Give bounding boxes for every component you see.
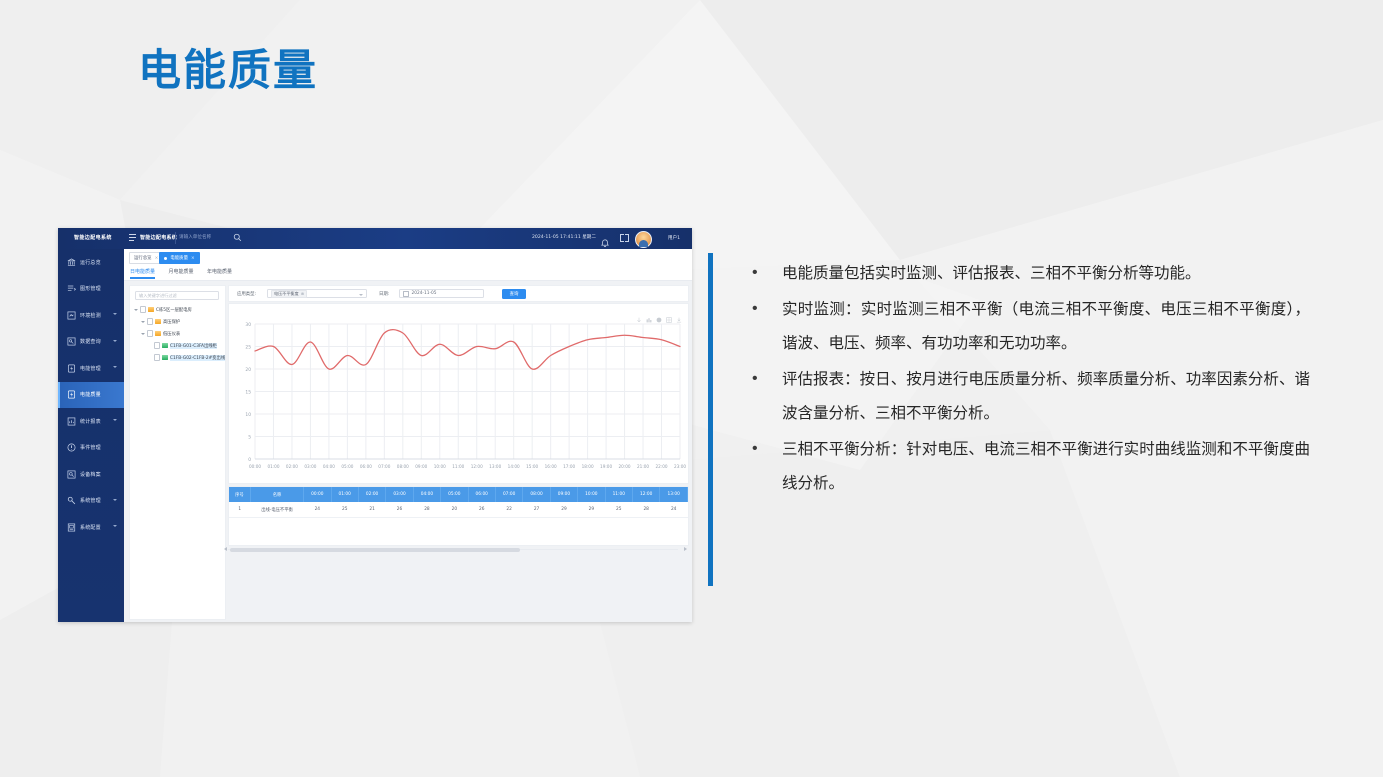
archive-icon	[67, 470, 76, 479]
type-tag: 电压不平衡度 ⊗	[271, 290, 307, 298]
svg-text:09:00: 09:00	[415, 464, 427, 469]
close-icon[interactable]: ×	[191, 256, 195, 261]
table-cell: 25	[331, 502, 358, 518]
monitor-icon	[67, 311, 76, 320]
calendar-icon	[403, 291, 409, 297]
query-button[interactable]: 查询	[502, 289, 526, 299]
report-icon	[67, 417, 76, 426]
device-icon	[162, 343, 168, 348]
chevron-icon[interactable]	[134, 308, 138, 312]
tree-node-1[interactable]: 高压保护	[141, 317, 180, 326]
sidebar-item-label: 运行总览	[80, 259, 101, 266]
chart-card: 05101520253000:0001:0002:0003:0004:0005:…	[228, 303, 689, 484]
svg-text:05:00: 05:00	[341, 464, 353, 469]
line-chart-plot: 05101520253000:0001:0002:0003:0004:0005:…	[229, 318, 688, 483]
tree-checkbox[interactable]	[154, 342, 161, 349]
svg-text:23:00: 23:00	[674, 464, 686, 469]
page-title: 电能质量	[138, 36, 318, 98]
type-tag-label: 电压不平衡度	[274, 291, 299, 297]
table-header-cell: 13:00	[660, 487, 688, 502]
chevron-down-icon	[113, 313, 117, 315]
restore-icon[interactable]	[666, 308, 672, 314]
tree-node-label: C1FB-G02-C1FB-2#变出线	[170, 355, 225, 361]
table-cell: 29	[578, 502, 605, 518]
date-value: 2024-11-05	[412, 291, 437, 296]
app-screenshot: 智能边配电系统 智能边配电系统 请输入单位名称 2024-11-05 17:41…	[58, 228, 692, 622]
table-cell: 20	[441, 502, 468, 518]
svg-text:0: 0	[248, 457, 251, 463]
energy-icon	[67, 364, 76, 373]
sidebar: 运行总览图形管理环境检测数据查询电能管理电能质量统计报表事件管理设备档案系统管理…	[58, 249, 124, 622]
chevron-down-icon	[113, 340, 117, 342]
sidebar-item-6[interactable]: 统计报表	[58, 408, 124, 435]
svg-text:11:00: 11:00	[452, 464, 464, 469]
table-cell: 26	[386, 502, 413, 518]
svg-text:08:00: 08:00	[397, 464, 409, 469]
sidebar-item-label: 事件管理	[80, 444, 101, 451]
svg-text:15: 15	[245, 390, 251, 396]
table-horizontal-scrollbar[interactable]	[228, 546, 687, 553]
table-header-cell: 08:00	[523, 487, 550, 502]
svg-text:25: 25	[245, 345, 251, 351]
table-cell: 26	[468, 502, 495, 518]
bullet-list: • 电能质量包括实时监测、评估报表、三相不平衡分析等功能。 • 实时监测：实时监…	[752, 256, 1310, 502]
svg-text:03:00: 03:00	[304, 464, 316, 469]
list-item: • 电能质量包括实时监测、评估报表、三相不平衡分析等功能。	[752, 256, 1310, 290]
close-icon[interactable]: ×	[155, 256, 159, 261]
svg-text:14:00: 14:00	[508, 464, 520, 469]
sidebar-item-8[interactable]: 设备档案	[58, 461, 124, 488]
svg-text:21:00: 21:00	[637, 464, 649, 469]
svg-text:06:00: 06:00	[360, 464, 372, 469]
layers-icon	[67, 284, 76, 293]
sub-tabs: 日电能质量月电能质量年电能质量	[124, 265, 692, 281]
chart-toolbar	[636, 308, 682, 314]
bullet-marker-icon: •	[752, 362, 782, 396]
scroll-left-arrow-icon[interactable]	[224, 547, 227, 551]
table-header-cell: 02:00	[358, 487, 385, 502]
svg-text:20: 20	[245, 367, 251, 373]
scroll-right-arrow-icon[interactable]	[684, 547, 687, 551]
table-header-cell: 05:00	[441, 487, 468, 502]
sidebar-item-3[interactable]: 数据查询	[58, 329, 124, 356]
tree-filter-input[interactable]: 输入关键字进行过滤	[135, 291, 219, 300]
bullet-text: 实时监测：实时监测三相不平衡（电流三相不平衡度、电压三相不平衡度），谐波、电压、…	[782, 292, 1310, 360]
tree-node-0[interactable]: C栋5区一层配电房	[134, 305, 192, 314]
svg-text:10: 10	[245, 412, 251, 418]
type-label: 应用类型:	[237, 291, 256, 297]
svg-text:16:00: 16:00	[545, 464, 557, 469]
folder-icon	[155, 331, 161, 336]
alert-icon	[67, 443, 76, 452]
tree-node-label: 高压保护	[163, 319, 180, 325]
table-cell: 出线-电压不平衡	[250, 502, 303, 518]
chevron-down-icon	[113, 419, 117, 421]
open-tab-0[interactable]: 运行总览×	[129, 252, 163, 264]
svg-text:10:00: 10:00	[434, 464, 446, 469]
tree-node-4[interactable]: C1FB-G02-C1FB-2#变出线	[148, 353, 225, 362]
folder-icon	[148, 307, 154, 312]
scroll-thumb[interactable]	[230, 548, 520, 552]
sidebar-item-label: 设备档案	[80, 471, 101, 478]
tree-checkbox[interactable]	[140, 306, 147, 313]
table-cell: 28	[413, 502, 440, 518]
data-view-icon[interactable]	[636, 308, 642, 314]
svg-text:00:00: 00:00	[249, 464, 261, 469]
table-header-cell: 09:00	[550, 487, 577, 502]
date-label: 日期:	[379, 291, 389, 297]
table-cell: 21	[358, 502, 385, 518]
tree-node-2[interactable]: 低压仪表	[141, 329, 180, 338]
sidebar-item-label: 系统管理	[80, 497, 101, 504]
sidebar-item-label: 统计报表	[80, 418, 101, 425]
table-cell: 24	[660, 502, 688, 518]
svg-text:22:00: 22:00	[655, 464, 667, 469]
unit-search-input[interactable]: 请输入单位名称	[179, 234, 211, 240]
database-icon	[67, 337, 76, 346]
open-tab-label: 运行总览	[134, 255, 152, 261]
fullscreen-icon[interactable]	[620, 234, 629, 242]
open-tab-1[interactable]: 电能质量×	[159, 252, 199, 264]
bank-icon	[67, 258, 76, 267]
data-table: 序号名称00:0001:0002:0003:0004:0005:0006:000…	[229, 487, 688, 518]
bell-icon[interactable]	[601, 233, 609, 242]
svg-text:13:00: 13:00	[489, 464, 501, 469]
svg-text:19:00: 19:00	[600, 464, 612, 469]
tree-checkbox[interactable]	[147, 318, 154, 325]
tab-0[interactable]: 日电能质量	[130, 268, 155, 275]
datetime-label: 2024-11-05 17:41:11 星期二	[532, 234, 596, 240]
tree-node-3[interactable]: C1FB-G01-C3FA出线柜	[148, 341, 217, 350]
active-dot-icon	[164, 257, 167, 260]
sidebar-item-label: 电能质量	[80, 391, 101, 398]
sidebar-item-1[interactable]: 图形管理	[58, 276, 124, 303]
svg-text:17:00: 17:00	[563, 464, 575, 469]
table-header-cell: 04:00	[413, 487, 440, 502]
chevron-down-icon	[113, 366, 117, 368]
table-cell: 28	[632, 502, 659, 518]
chevron-down-icon	[113, 499, 117, 501]
pie-switch-icon[interactable]	[656, 308, 662, 314]
sidebar-item-label: 电能管理	[80, 365, 101, 372]
svg-text:07:00: 07:00	[378, 464, 390, 469]
sidebar-item-4[interactable]: 电能管理	[58, 355, 124, 382]
data-table-card: 序号名称00:0001:0002:0003:0004:0005:0006:000…	[228, 486, 689, 546]
divider	[175, 232, 176, 244]
date-input[interactable]: 2024-11-05	[399, 289, 484, 298]
bullet-marker-icon: •	[752, 432, 782, 466]
list-item: • 实时监测：实时监测三相不平衡（电流三相不平衡度、电压三相不平衡度），谐波、电…	[752, 292, 1310, 360]
sidebar-item-label: 环境检测	[80, 312, 101, 319]
svg-text:12:00: 12:00	[471, 464, 483, 469]
svg-text:04:00: 04:00	[323, 464, 335, 469]
remove-tag-icon[interactable]: ⊗	[301, 291, 304, 296]
tree-node-label: C1FB-G01-C3FA出线柜	[170, 343, 217, 349]
table-header-row: 序号名称00:0001:0002:0003:0004:0005:0006:000…	[229, 487, 688, 502]
tree-node-label: 低压仪表	[163, 331, 180, 337]
table-header-cell: 03:00	[386, 487, 413, 502]
download-icon[interactable]	[676, 308, 682, 314]
table-row[interactable]: 1出线-电压不平衡2425212628202622272929252824	[229, 502, 688, 518]
tab-2[interactable]: 年电能质量	[207, 268, 232, 275]
tab-1[interactable]: 月电能质量	[169, 268, 194, 275]
table-header-cell: 名称	[250, 487, 303, 502]
bullet-text: 电能质量包括实时监测、评估报表、三相不平衡分析等功能。	[782, 256, 1310, 290]
sidebar-item-9[interactable]: 系统管理	[58, 488, 124, 515]
table-cell: 27	[523, 502, 550, 518]
tree-node-label: C栋5区一层配电房	[156, 307, 192, 313]
svg-text:20:00: 20:00	[619, 464, 631, 469]
sidebar-item-5[interactable]: 电能质量	[58, 382, 124, 409]
table-header-cell: 12:00	[632, 487, 659, 502]
chevron-down-icon	[113, 525, 117, 527]
chevron-icon[interactable]	[141, 332, 145, 336]
open-tabs-bar: 运行总览×电能质量×	[124, 249, 692, 266]
bullet-marker-icon: •	[752, 256, 782, 290]
table-cell: 1	[229, 502, 250, 518]
sidebar-item-label: 图形管理	[80, 285, 101, 292]
open-tab-label: 电能质量	[170, 255, 188, 261]
list-item: • 评估报表：按日、按月进行电压质量分析、频率质量分析、功率因素分析、谐波含量分…	[752, 362, 1310, 430]
main-content: 运行总览×电能质量× 日电能质量月电能质量年电能质量 输入关键字进行过滤 C栋5…	[124, 249, 692, 622]
sidebar-item-7[interactable]: 事件管理	[58, 435, 124, 462]
settings-icon	[67, 496, 76, 505]
table-body: 1出线-电压不平衡2425212628202622272929252824	[229, 502, 688, 518]
table-header-cell: 06:00	[468, 487, 495, 502]
table-cell: 22	[495, 502, 522, 518]
sidebar-item-0[interactable]: 运行总览	[58, 249, 124, 276]
svg-text:5: 5	[248, 435, 251, 441]
bar-switch-icon[interactable]	[646, 308, 652, 314]
table-header-cell: 序号	[229, 487, 250, 502]
bullet-marker-icon: •	[752, 292, 782, 326]
search-icon[interactable]	[233, 233, 242, 242]
accent-bar	[708, 253, 713, 586]
sidebar-item-label: 系统配置	[80, 524, 101, 531]
table-header-cell: 00:00	[304, 487, 331, 502]
avatar[interactable]	[635, 231, 652, 248]
app-topbar: 智能边配电系统 智能边配电系统 请输入单位名称 2024-11-05 17:41…	[58, 228, 692, 249]
list-item: • 三相不平衡分析：针对电压、电流三相不平衡进行实时曲线监测和不平衡度曲线分析。	[752, 432, 1310, 500]
app-title: 智能边配电系统	[140, 234, 177, 241]
svg-text:18:00: 18:00	[582, 464, 594, 469]
folder-icon	[155, 319, 161, 324]
table-header-cell: 11:00	[605, 487, 632, 502]
svg-text:01:00: 01:00	[267, 464, 279, 469]
user-label: 用户1	[668, 235, 680, 241]
table-header-cell: 07:00	[495, 487, 522, 502]
type-select[interactable]: 电压不平衡度 ⊗	[267, 289, 367, 298]
sidebar-item-2[interactable]: 环境检测	[58, 302, 124, 329]
config-icon	[67, 523, 76, 532]
sidebar-item-label: 数据查询	[80, 338, 101, 345]
svg-text:02:00: 02:00	[286, 464, 298, 469]
filter-bar: 应用类型: 电压不平衡度 ⊗ 日期: 2024-11-05 查询	[228, 285, 689, 302]
tree-checkbox[interactable]	[147, 330, 154, 337]
table-header-cell: 10:00	[578, 487, 605, 502]
chevron-icon[interactable]	[141, 320, 145, 324]
table-cell: 25	[605, 502, 632, 518]
app-logo: 智能边配电系统	[74, 234, 112, 241]
tree-checkbox[interactable]	[154, 354, 161, 361]
svg-text:30: 30	[245, 322, 251, 328]
svg-text:15:00: 15:00	[526, 464, 538, 469]
table-cell: 24	[304, 502, 331, 518]
device-tree-panel: 输入关键字进行过滤 C栋5区一层配电房高压保护低压仪表C1FB-G01-C3FA…	[129, 285, 226, 620]
table-cell: 29	[550, 502, 577, 518]
quality-icon	[67, 390, 76, 399]
table-header-cell: 01:00	[331, 487, 358, 502]
hamburger-icon[interactable]	[129, 234, 136, 241]
sidebar-item-10[interactable]: 系统配置	[58, 514, 124, 541]
bullet-text: 三相不平衡分析：针对电压、电流三相不平衡进行实时曲线监测和不平衡度曲线分析。	[782, 432, 1310, 500]
device-icon	[162, 355, 168, 360]
chevron-down-icon	[359, 294, 363, 296]
bullet-text: 评估报表：按日、按月进行电压质量分析、频率质量分析、功率因素分析、谐波含量分析、…	[782, 362, 1310, 430]
